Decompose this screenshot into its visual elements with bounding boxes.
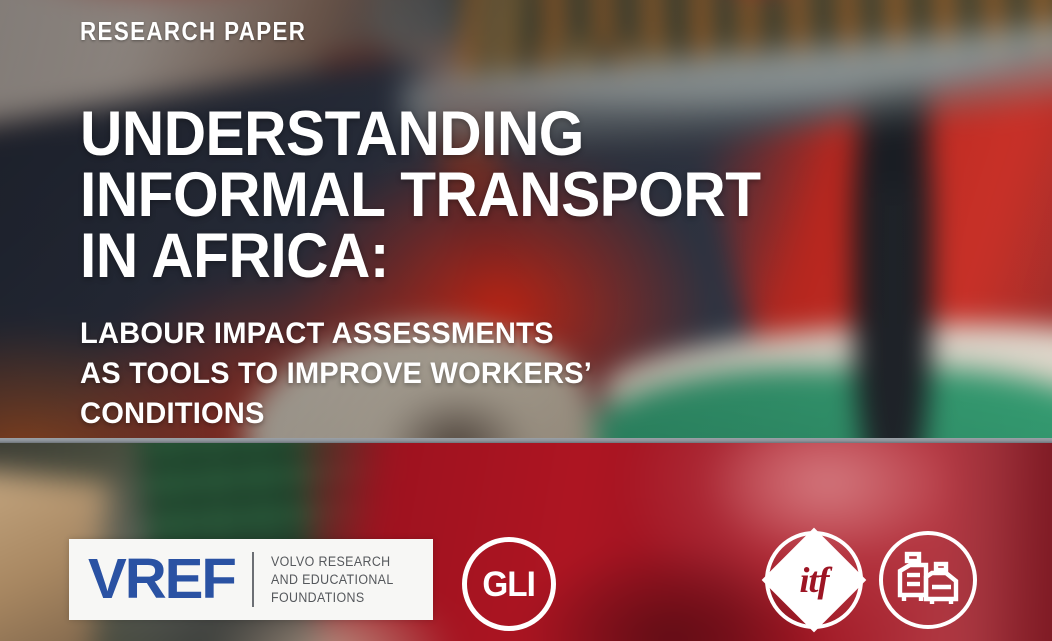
- gli-logo[interactable]: GLI: [462, 537, 556, 631]
- vref-descriptor-line-2: AND EDUCATIONAL: [271, 571, 394, 589]
- subtitle-line-3: CONDITIONS: [80, 394, 592, 434]
- subtitle-line-2: AS TOOLS TO IMPROVE WORKERS’: [80, 354, 592, 394]
- gli-wordmark: GLI: [483, 567, 536, 602]
- vref-descriptor-line-3: FOUNDATIONS: [271, 589, 394, 607]
- subtitle-line-1: LABOUR IMPACT ASSESSMENTS: [80, 314, 592, 354]
- informal-transport-vehicles-icon: [896, 551, 960, 609]
- document-kicker: RESEARCH PAPER: [80, 18, 306, 44]
- vref-logo[interactable]: VREF VOLVO RESEARCH AND EDUCATIONAL FOUN…: [69, 539, 433, 620]
- title-line-3: IN AFRICA:: [80, 226, 761, 287]
- vref-descriptor: VOLVO RESEARCH AND EDUCATIONAL FOUNDATIO…: [271, 553, 394, 607]
- page-title: UNDERSTANDING INFORMAL TRANSPORT IN AFRI…: [80, 104, 761, 287]
- research-paper-cover: RESEARCH PAPER UNDERSTANDING INFORMAL TR…: [0, 0, 1052, 641]
- page-subtitle: LABOUR IMPACT ASSESSMENTS AS TOOLS TO IM…: [80, 314, 592, 434]
- title-line-1: UNDERSTANDING: [80, 104, 761, 165]
- itf-wordmark: itf: [765, 531, 863, 629]
- vref-divider-rule: [252, 552, 254, 607]
- itf-logo[interactable]: itf: [765, 531, 863, 629]
- informal-transport-logo[interactable]: [879, 531, 977, 629]
- title-line-2: INFORMAL TRANSPORT: [80, 165, 761, 226]
- vref-descriptor-line-1: VOLVO RESEARCH: [271, 553, 394, 571]
- vref-wordmark: VREF: [88, 551, 235, 608]
